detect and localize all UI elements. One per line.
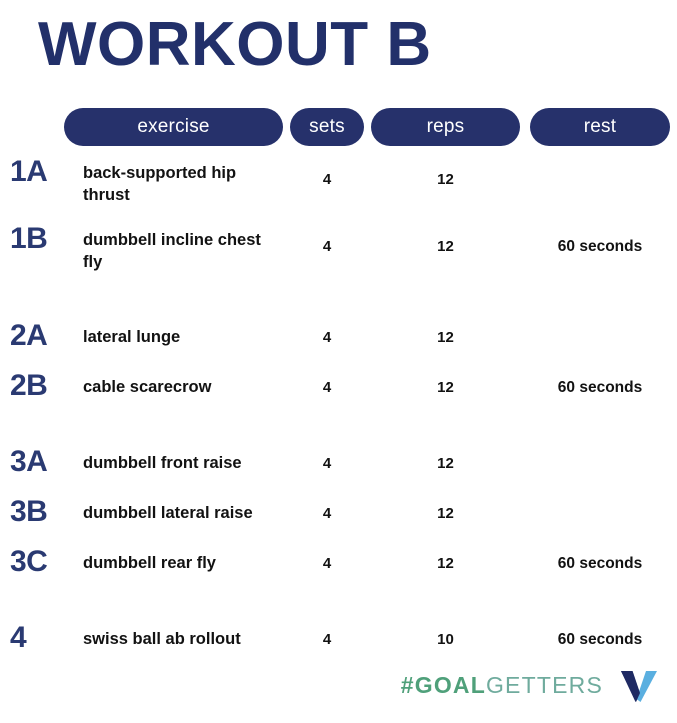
row-rest-value: 60 seconds xyxy=(530,631,670,649)
v-logo-icon xyxy=(619,669,659,703)
row-reps-value: 10 xyxy=(371,631,520,648)
table-row: 2Alateral lunge412 xyxy=(0,315,677,365)
table-row: 4swiss ball ab rollout41060 seconds xyxy=(0,617,677,667)
row-sets-value: 4 xyxy=(290,505,364,522)
row-label: 1A xyxy=(10,157,72,187)
workout-table: 1Aback-supported hip thrust4121Bdumbbell… xyxy=(0,155,677,667)
column-header-sets: sets xyxy=(290,108,364,146)
row-sets-value: 4 xyxy=(290,171,364,188)
table-header-row: exercise sets reps rest xyxy=(0,108,677,146)
row-sets-value: 4 xyxy=(290,329,364,346)
row-reps-value: 12 xyxy=(371,238,520,255)
footer: #GOALGETTERS xyxy=(0,661,677,705)
row-sets-value: 4 xyxy=(290,379,364,396)
column-header-rest: rest xyxy=(530,108,670,146)
row-label: 1B xyxy=(10,224,72,254)
row-exercise-name: swiss ball ab rollout xyxy=(83,629,283,651)
row-label: 3A xyxy=(10,447,72,477)
row-label: 3C xyxy=(10,547,72,577)
table-row: 1Aback-supported hip thrust412 xyxy=(0,155,677,222)
row-exercise-name: cable scarecrow xyxy=(83,377,283,399)
brand-wordmark: #GOALGETTERS xyxy=(401,672,603,699)
row-label: 2A xyxy=(10,321,72,351)
row-reps-value: 12 xyxy=(371,329,520,346)
brand-getters-text: GETTERS xyxy=(486,672,603,698)
row-reps-value: 12 xyxy=(371,555,520,572)
row-reps-value: 12 xyxy=(371,171,520,188)
row-exercise-name: dumbbell lateral raise xyxy=(83,503,283,525)
page-title: WORKOUT B xyxy=(38,14,432,76)
row-exercise-name: dumbbell front raise xyxy=(83,453,283,475)
row-rest-value: 60 seconds xyxy=(530,238,670,256)
column-header-reps: reps xyxy=(371,108,520,146)
row-reps-value: 12 xyxy=(371,505,520,522)
row-reps-value: 12 xyxy=(371,455,520,472)
table-row: 3Adumbbell front raise412 xyxy=(0,441,677,491)
table-row: 1Bdumbbell incline chest fly41260 second… xyxy=(0,222,677,289)
row-rest-value: 60 seconds xyxy=(530,379,670,397)
brand-goal-text: #GOAL xyxy=(401,672,486,698)
row-exercise-name: lateral lunge xyxy=(83,327,283,349)
table-row: 3Bdumbbell lateral raise412 xyxy=(0,491,677,541)
row-label: 2B xyxy=(10,371,72,401)
column-header-exercise: exercise xyxy=(64,108,283,146)
row-reps-value: 12 xyxy=(371,379,520,396)
row-sets-value: 4 xyxy=(290,631,364,648)
row-label: 3B xyxy=(10,497,72,527)
row-sets-value: 4 xyxy=(290,555,364,572)
row-exercise-name: back-supported hip thrust xyxy=(83,163,283,207)
row-label: 4 xyxy=(10,623,72,653)
row-exercise-name: dumbbell incline chest fly xyxy=(83,230,283,274)
row-sets-value: 4 xyxy=(290,238,364,255)
row-exercise-name: dumbbell rear fly xyxy=(83,553,283,575)
table-row: 2Bcable scarecrow41260 seconds xyxy=(0,365,677,415)
table-row: 3Cdumbbell rear fly41260 seconds xyxy=(0,541,677,591)
row-sets-value: 4 xyxy=(290,455,364,472)
row-rest-value: 60 seconds xyxy=(530,555,670,573)
